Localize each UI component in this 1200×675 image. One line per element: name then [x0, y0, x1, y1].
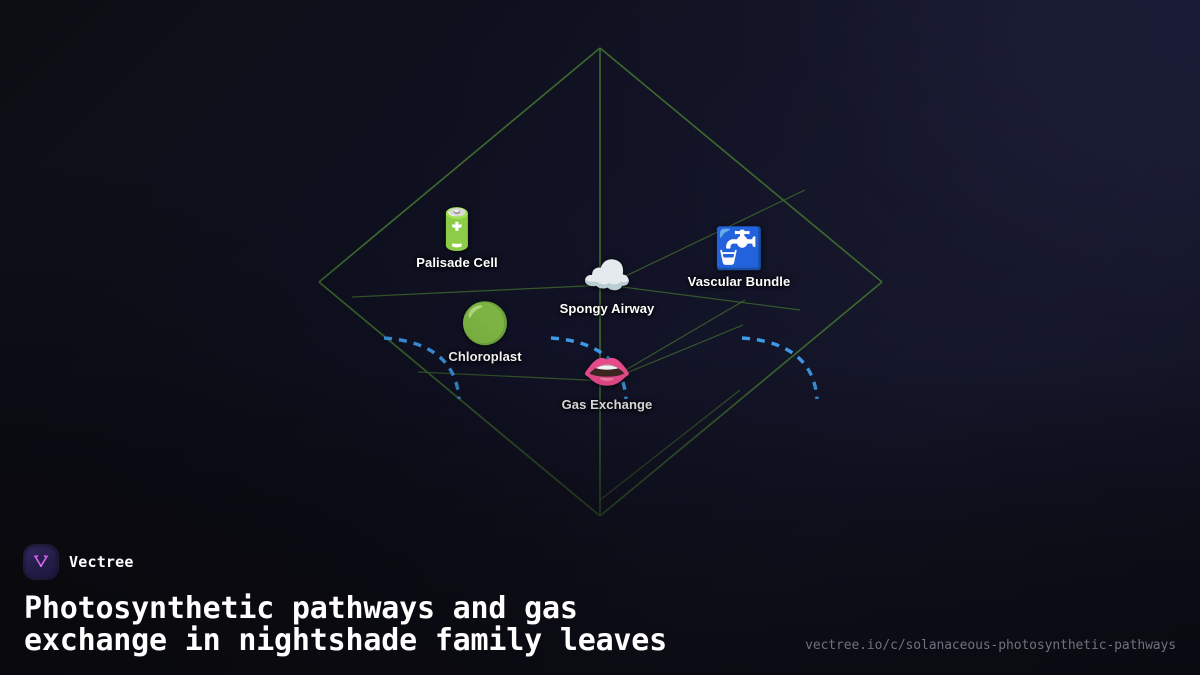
graph-node-palisade-cell[interactable]: 🔋Palisade Cell — [372, 208, 542, 270]
potable-water-icon: 🚰 — [714, 227, 764, 271]
green-circle-icon: 🟢 — [460, 302, 510, 346]
graph-node-label: Palisade Cell — [416, 255, 498, 270]
v-tree-glyph — [31, 552, 51, 572]
footer: Vectree Photosynthetic pathways and gas … — [0, 545, 1200, 675]
cloud-icon: ☁️ — [582, 254, 632, 298]
source-url: vectree.io/c/solanaceous-photosynthetic-… — [805, 638, 1176, 653]
vectree-logo-icon[interactable] — [24, 545, 58, 579]
graph-node-vascular-bundle[interactable]: 🚰Vascular Bundle — [654, 227, 824, 289]
graph-node-label: Vascular Bundle — [688, 274, 791, 289]
mouth-icon: 👄 — [582, 350, 632, 394]
brand-row: Vectree — [24, 545, 1176, 579]
canvas-background: 🔋Palisade Cell☁️Spongy Airway🚰Vascular B… — [0, 0, 1200, 675]
brand-name: Vectree — [69, 553, 134, 571]
graph-node-label: Spongy Airway — [560, 301, 655, 316]
page-title: Photosynthetic pathways and gas exchange… — [24, 593, 724, 657]
graph-node-label: Gas Exchange — [562, 397, 653, 412]
graph-node-gas-exchange[interactable]: 👄Gas Exchange — [522, 350, 692, 412]
battery-icon: 🔋 — [432, 208, 482, 252]
graph-node-label: Chloroplast — [448, 349, 521, 364]
